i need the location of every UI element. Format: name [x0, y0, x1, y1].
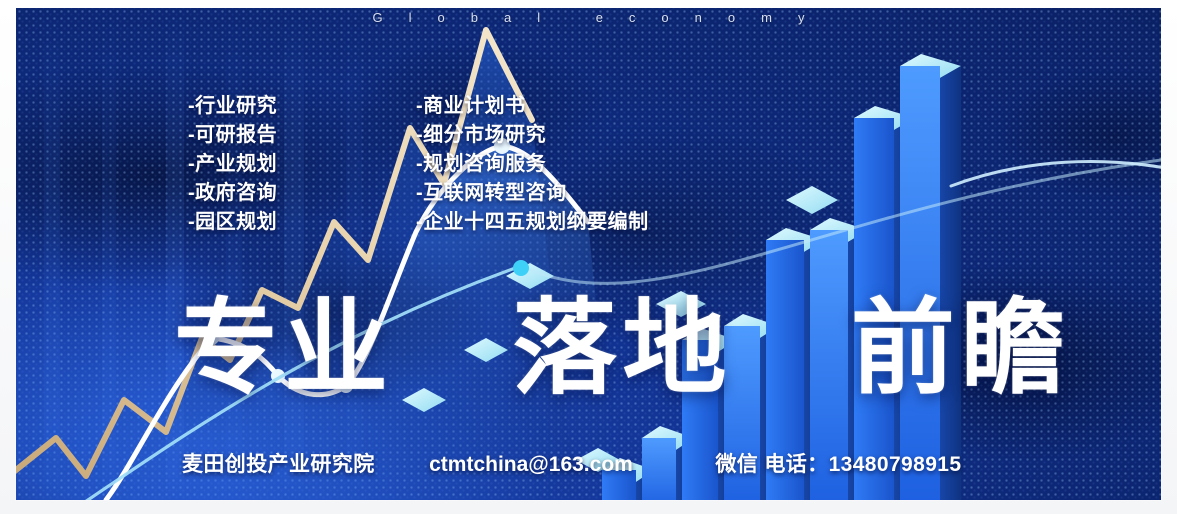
headline: 专业 落地 前瞻	[174, 296, 1071, 400]
service-list-left: -行业研究 -可研报告 -产业规划 -政府咨询 -园区规划	[188, 92, 277, 237]
contact-label: 微信 电话：	[715, 448, 828, 478]
banner-stage: Global economy -行业研究 -可研报告 -产业规划 -政府咨询 -…	[0, 0, 1177, 514]
headline-word-2: 落地	[512, 287, 732, 409]
marketing-banner: Global economy -行业研究 -可研报告 -产业规划 -政府咨询 -…	[16, 8, 1161, 500]
service-item: -政府咨询	[188, 179, 277, 208]
service-item: -园区规划	[188, 208, 277, 237]
service-item: -商业计划书	[416, 92, 649, 121]
footer-contact-line: 麦田创投产业研究院 ctmtchina@163.com 微信 电话：134807…	[182, 448, 961, 478]
service-item: -企业十四五规划纲要编制	[416, 208, 649, 237]
service-item: -细分市场研究	[416, 121, 649, 150]
headline-word-1: 专业	[174, 287, 394, 409]
vignette-overlay	[16, 8, 1161, 500]
org-name: 麦田创投产业研究院	[182, 448, 375, 478]
service-item: -规划咨询服务	[416, 150, 649, 179]
service-item: -产业规划	[188, 150, 277, 179]
service-list-right: -商业计划书 -细分市场研究 -规划咨询服务 -互联网转型咨询 -企业十四五规划…	[416, 92, 649, 237]
email-address[interactable]: ctmtchina@163.com	[429, 453, 633, 477]
header-title: Global economy	[16, 10, 1161, 25]
service-item: -可研报告	[188, 121, 277, 150]
service-item: -互联网转型咨询	[416, 179, 649, 208]
service-item: -行业研究	[188, 92, 277, 121]
phone-number[interactable]: 13480798915	[829, 453, 962, 477]
headline-word-3: 前瞻	[851, 287, 1071, 409]
